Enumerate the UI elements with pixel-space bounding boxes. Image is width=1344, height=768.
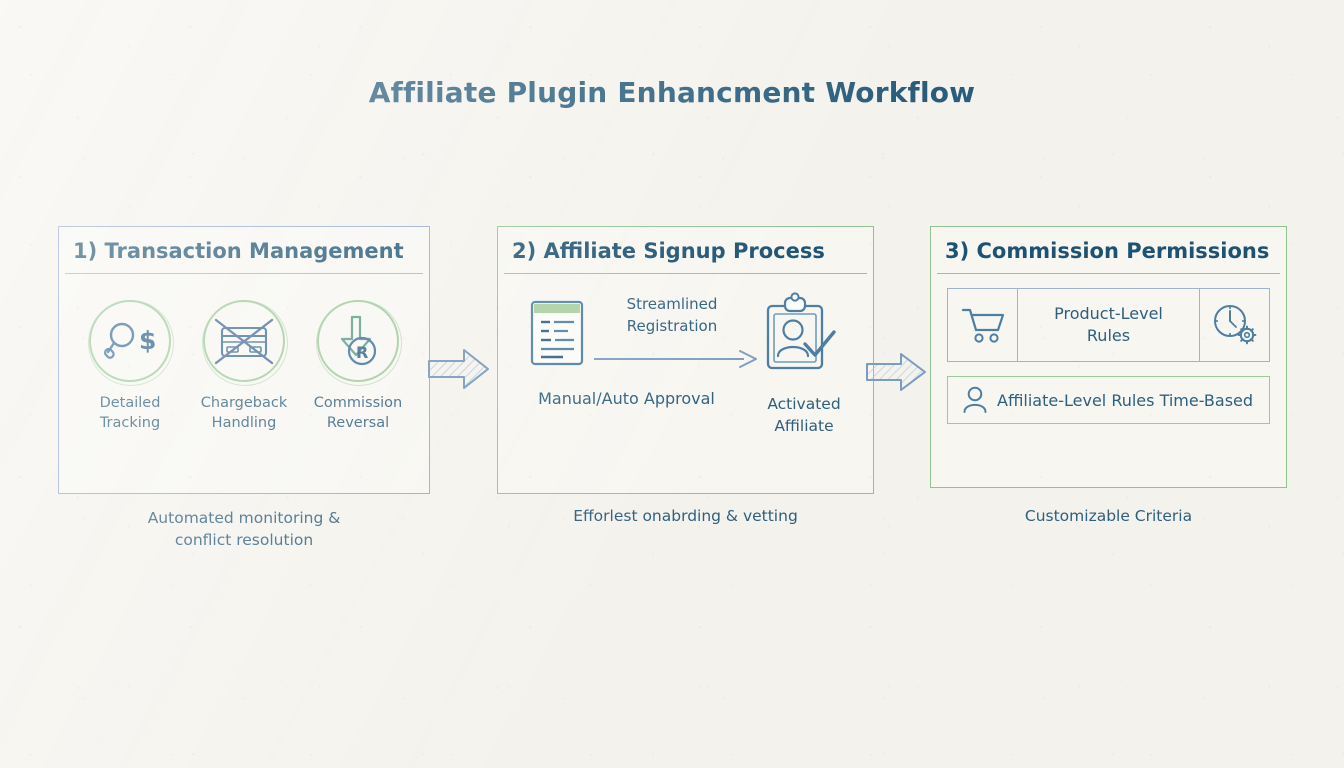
caption-line-1: Automated monitoring & — [58, 507, 430, 529]
clock-gear-icon — [1199, 289, 1269, 361]
manual-auto-approval-label: Manual/Auto Approval — [514, 389, 739, 408]
commission-rows: Product-Level Rules — [931, 274, 1286, 424]
product-level-rules-row[interactable]: Product-Level Rules — [947, 288, 1270, 362]
page-title: Affiliate Plugin Enhancment Workflow — [0, 76, 1344, 109]
feature-label-detailed-tracking: Detailed Tracking — [76, 394, 184, 433]
panel-title-affiliate-signup-process: 2) Affiliate Signup Process — [498, 227, 873, 273]
feature-item-chargeback-handling[interactable]: Chargeback Handling — [190, 300, 298, 433]
panel-body-affiliate-signup-process: Streamlined Registration Manual/Auto App… — [498, 274, 873, 482]
svg-text:$: $ — [139, 326, 156, 355]
feature-icon-row: $ Detailed Tracking — [59, 274, 429, 433]
arrow-label-line-1: Streamlined — [602, 294, 742, 316]
magnifier-dollar-icon: $ — [89, 300, 171, 382]
connector-arrow-2 — [866, 350, 928, 394]
caption-transaction-management: Automated monitoring & conflict resoluti… — [58, 507, 430, 552]
arrow-down-reversal-icon: R — [317, 300, 399, 382]
panel-title-commission-permissions: 3) Commission Permissions — [931, 227, 1286, 273]
credit-card-crossed-icon — [203, 300, 285, 382]
affiliate-level-rules-row[interactable]: Affiliate-Level Rules Time-Based — [947, 376, 1270, 424]
document-form-icon — [530, 300, 584, 366]
feature-label-commission-reversal: Commission Reversal — [304, 394, 412, 433]
signup-flow-diagram: Streamlined Registration Manual/Auto App… — [498, 274, 873, 482]
feature-label-chargeback-handling: Chargeback Handling — [190, 394, 298, 433]
person-icon — [962, 385, 988, 415]
target-label-line-2: Affiliate — [744, 416, 864, 438]
text-line-1: Product-Level — [1054, 303, 1163, 325]
panel-affiliate-signup-process[interactable]: 2) Affiliate Signup Process St — [497, 226, 874, 494]
shopping-cart-icon — [948, 289, 1018, 361]
panel-transaction-management[interactable]: 1) Transaction Management $ Detailed Tra… — [58, 226, 430, 494]
caption-line-2: conflict resolution — [58, 529, 430, 551]
affiliate-level-rules-label: Affiliate-Level Rules Time-Based — [997, 391, 1253, 410]
label-line-2: Tracking — [76, 414, 184, 434]
panel-body-transaction-management: $ Detailed Tracking — [59, 274, 429, 482]
product-level-rules-label: Product-Level Rules — [1018, 289, 1199, 361]
label-line-1: Chargeback — [190, 394, 298, 414]
caption-commission-permissions: Customizable Criteria — [930, 505, 1287, 527]
arrow-label-line-2: Registration — [602, 316, 742, 338]
feature-item-detailed-tracking[interactable]: $ Detailed Tracking — [76, 300, 184, 433]
flow-arrow-icon — [594, 350, 758, 368]
caption-affiliate-signup-process: Efforlest onabrding & vetting — [497, 505, 874, 527]
target-label-line-1: Activated — [744, 394, 864, 416]
panel-commission-permissions[interactable]: 3) Commission Permissions Product-Level … — [930, 226, 1287, 488]
clipboard-person-check-icon — [762, 294, 838, 376]
activated-affiliate-label: Activated Affiliate — [744, 394, 864, 437]
label-line-1: Commission — [304, 394, 412, 414]
connector-arrow-1 — [428, 346, 490, 392]
panel-body-commission-permissions: Product-Level Rules — [931, 274, 1286, 476]
flow-arrow-label: Streamlined Registration — [602, 294, 742, 338]
svg-text:R: R — [356, 343, 368, 362]
text-line-2: Rules — [1054, 325, 1163, 347]
label-line-1: Detailed — [76, 394, 184, 414]
label-line-2: Reversal — [304, 414, 412, 434]
label-line-2: Handling — [190, 414, 298, 434]
panel-title-transaction-management: 1) Transaction Management — [59, 227, 429, 273]
feature-item-commission-reversal[interactable]: R Commission Reversal — [304, 300, 412, 433]
